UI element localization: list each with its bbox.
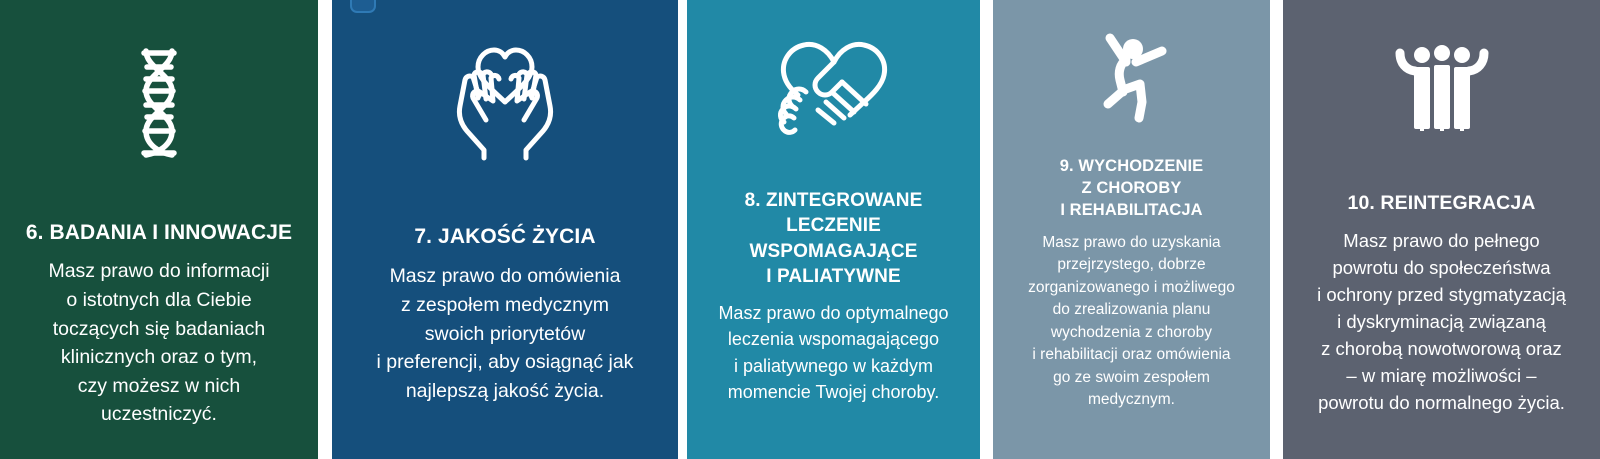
card-body: Masz prawo do pełnego powrotu do społecz… — [1317, 227, 1566, 416]
card-title: 8. ZINTEGROWANE LECZENIE WSPOMAGAJĄCE I … — [745, 188, 923, 289]
card-body: Masz prawo do optymalnego leczenia wspom… — [718, 300, 948, 405]
card-reintegracja[interactable]: 10. REINTEGRACJA Masz prawo do pełnego p… — [1283, 0, 1600, 459]
card-title: 9. WYCHODZENIE Z CHOROBY I REHABILITACJA — [1060, 156, 1204, 222]
card-body: Masz prawo do informacji o istotnych dla… — [48, 257, 269, 429]
card-title: 7. JAKOŚĆ ŻYCIA — [414, 224, 595, 249]
card-gap — [980, 0, 993, 459]
card-zintegrowane-leczenie[interactable]: 8. ZINTEGROWANE LECZENIE WSPOMAGAJĄCE I … — [687, 0, 980, 459]
hands-holding-heart-icon — [440, 44, 570, 162]
card-title: 10. REINTEGRACJA — [1348, 192, 1536, 215]
card-body: Masz prawo do omówienia z zespołem medyc… — [377, 262, 634, 405]
jumping-person-icon — [1096, 26, 1168, 130]
card-gap — [318, 0, 332, 459]
card-badania-i-innowacje[interactable]: 6. BADANIA I INNOWACJE Masz prawo do inf… — [0, 0, 318, 459]
rights-cards-board: 6. BADANIA I INNOWACJE Masz prawo do inf… — [0, 0, 1600, 459]
card-body: Masz prawo do uzyskania przejrzystego, d… — [1028, 232, 1235, 412]
handshake-heart-icon — [772, 38, 896, 138]
card-jakosc-zycia[interactable]: 7. JAKOŚĆ ŻYCIA Masz prawo do omówienia … — [332, 0, 678, 459]
card-gap — [678, 0, 687, 459]
partial-badge-icon — [350, 0, 376, 13]
card-title: 6. BADANIA I INNOWACJE — [26, 220, 292, 245]
three-people-raised-arms-icon — [1390, 40, 1494, 140]
card-gap — [1270, 0, 1283, 459]
card-wychodzenie-z-choroby[interactable]: 9. WYCHODZENIE Z CHOROBY I REHABILITACJA… — [993, 0, 1270, 459]
dna-helix-icon — [122, 48, 196, 158]
